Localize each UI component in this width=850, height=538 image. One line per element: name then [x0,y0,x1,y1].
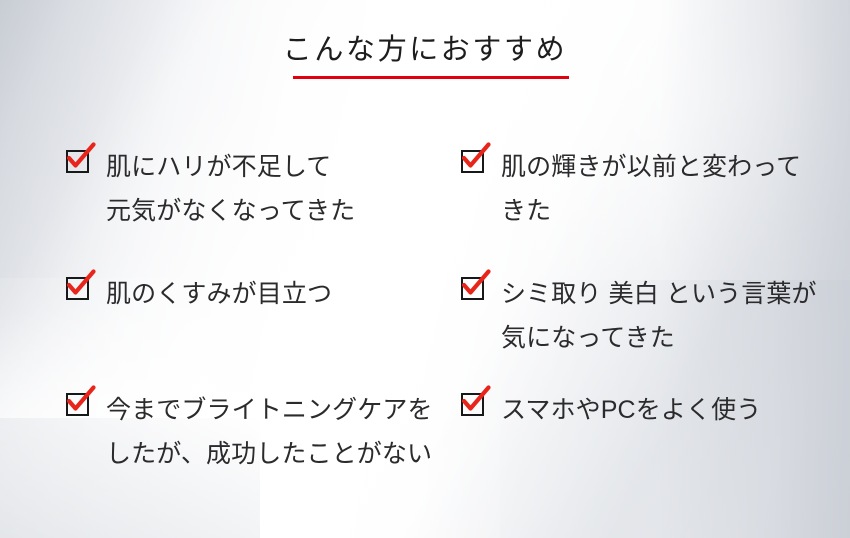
list-item[interactable]: 肌の輝きが以前と変わって きた [461,145,801,233]
section-heading: こんな方におすすめ [0,33,850,77]
checkbox-checked-icon[interactable] [461,393,484,416]
checkbox-checked-icon[interactable] [66,393,89,416]
list-item-label: シミ取り 美白 という言葉が 気になってきた [501,272,817,360]
promo-section: こんな方におすすめ 肌にハリが不足して 元気がなくなってきた [0,0,850,538]
list-item[interactable]: 今までブライトニングケアを したが、成功したことがない [66,388,433,476]
checkbox-checked-icon[interactable] [66,277,89,300]
list-item[interactable]: 肌のくすみが目立つ [66,272,332,316]
list-item-label: スマホやPCをよく使う [501,388,761,432]
list-item[interactable]: スマホやPCをよく使う [461,388,761,432]
list-item[interactable]: シミ取り 美白 という言葉が 気になってきた [461,272,817,360]
checkbox-checked-icon[interactable] [461,277,484,300]
list-item-label: 肌の輝きが以前と変わって きた [501,145,801,233]
list-item-label: 肌にハリが不足して 元気がなくなってきた [106,145,355,233]
checkbox-checked-icon[interactable] [66,150,89,173]
checkbox-checked-icon[interactable] [461,150,484,173]
list-item-label: 今までブライトニングケアを したが、成功したことがない [106,388,433,476]
page-title: こんな方におすすめ [279,33,572,77]
list-item-label: 肌のくすみが目立つ [106,272,332,316]
title-underline [293,76,569,79]
list-item[interactable]: 肌にハリが不足して 元気がなくなってきた [66,145,355,233]
